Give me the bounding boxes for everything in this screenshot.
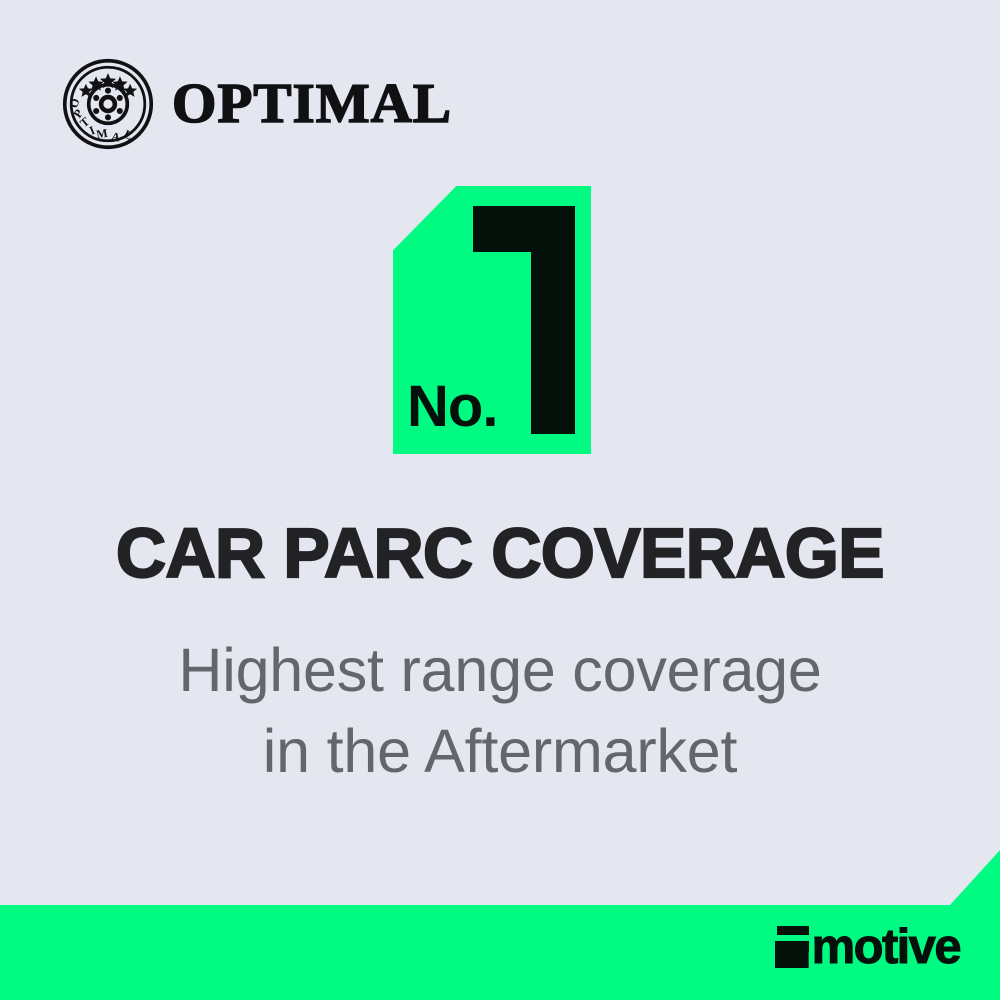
page-subtitle: Highest range coverage in the Aftermarke… (0, 630, 1000, 791)
numeral-stem (531, 206, 575, 434)
svg-text:M: M (95, 126, 108, 142)
rank-numeral-one (473, 206, 575, 434)
svg-text:A: A (110, 129, 122, 144)
subtitle-line-2: in the Aftermarket (0, 711, 1000, 792)
emotive-e-glyph-icon (775, 926, 809, 968)
e-top-bar (777, 926, 809, 935)
subtitle-line-1: Highest range coverage (0, 630, 1000, 711)
poster-canvas: O P T I M A L OPTIMAL No. (0, 0, 1000, 1000)
optimal-seal-icon: O P T I M A L (62, 58, 154, 150)
rank-badge: No. (393, 186, 591, 454)
brand-header: O P T I M A L OPTIMAL (62, 58, 447, 150)
brand-wordmark: OPTIMAL (172, 76, 452, 132)
e-left-stem (775, 941, 786, 968)
page-title: CAR PARC COVERAGE (5, 518, 995, 588)
emotive-wordmark-text: motive (812, 926, 960, 968)
emotive-logo: motive (775, 926, 960, 968)
